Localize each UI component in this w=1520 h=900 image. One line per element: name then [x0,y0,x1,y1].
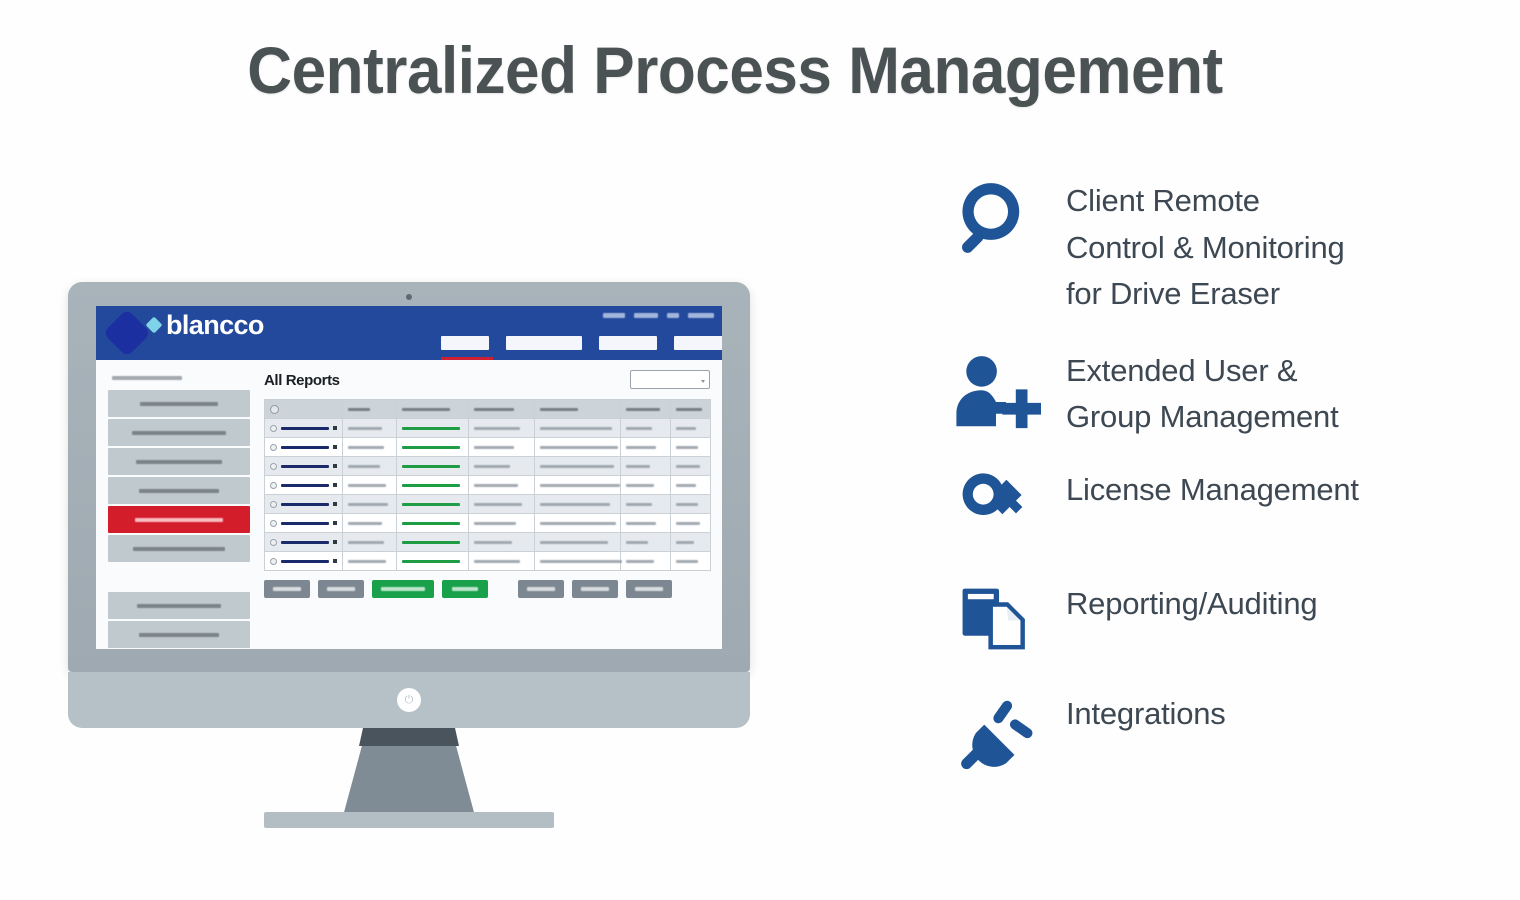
column-label [402,408,450,411]
chevron-down-icon [701,380,705,383]
feature-item-3: License Management [948,467,1488,547]
sidebar-item-label [135,518,223,522]
row-progress-bar [281,446,329,449]
row-select-group[interactable] [270,558,337,565]
col-report-cell [343,495,397,514]
table-row[interactable] [265,438,711,457]
nav-tab-2[interactable] [506,336,582,350]
action-button-label [581,587,609,591]
cell-value [474,560,520,563]
col-details-cell [535,533,621,552]
col-report-cell [343,533,397,552]
action-button-label [327,587,355,591]
reports-search-input[interactable] [630,370,710,389]
cell-value [676,541,694,544]
monitor-stand-base [264,812,554,828]
col-device-cell [469,457,535,476]
row-checkbox[interactable] [270,539,277,546]
col-details-cell [535,495,621,514]
cell-value [348,446,384,449]
feature-label-2: Extended User & Group Management [1066,348,1339,441]
cell-value [474,427,520,430]
col-device-cell [469,533,535,552]
status-bar [402,541,460,544]
col-report-cell [343,438,397,457]
cell-value [540,446,618,449]
col-date-cell [621,438,671,457]
cell-value [474,522,516,525]
cell-value [626,522,656,525]
action-button-6[interactable] [572,580,618,598]
col-user-cell [671,476,711,495]
row-progress-bar [281,465,329,468]
row-select-group[interactable] [270,501,337,508]
col-user-cell [671,438,711,457]
row-select-group[interactable] [270,482,337,489]
reports-table-body [265,419,711,571]
status-bar [402,465,460,468]
monitor-stand-neck [359,728,459,746]
app-body: All Reports [96,360,722,649]
col-status-cell [397,552,469,571]
user-add-icon [948,348,1044,438]
col-date-cell [621,495,671,514]
cell-value [540,503,610,506]
top-utility-nav[interactable] [603,313,714,318]
sidebar-item-label [140,402,218,406]
col-report-cell [343,419,397,438]
feature-list: Client Remote Control & Monitoring for D… [948,178,1488,775]
camera-dot [406,294,412,300]
select-all-checkbox[interactable] [270,405,279,414]
key-icon [948,467,1044,547]
col-device-header[interactable] [469,400,535,419]
col-report-cell [343,476,397,495]
col-device-cell [469,552,535,571]
row-progress-bar [281,541,329,544]
row-select-group[interactable] [270,463,337,470]
diamond-logo-icon [103,309,151,357]
col-details-cell [535,438,621,457]
action-button-2[interactable] [318,580,364,598]
sidebar-divider [108,564,250,592]
row-select-cell[interactable] [265,495,343,514]
sidebar-item-3[interactable] [108,448,250,475]
column-label [348,408,370,411]
monitor-screen: blancco All Repor [96,306,722,649]
col-details-cell [535,457,621,476]
col-user-cell [671,514,711,533]
col-user-cell [671,419,711,438]
feature-item-1: Client Remote Control & Monitoring for D… [948,178,1488,318]
row-checkbox[interactable] [270,520,277,527]
col-date-cell [621,457,671,476]
action-button-label [635,587,663,591]
feature-item-2: Extended User & Group Management [948,348,1488,441]
col-device-cell [469,419,535,438]
row-select-cell[interactable] [265,514,343,533]
brand-logo-text: blancco [166,310,264,341]
col-user-cell [671,552,711,571]
nav-tab-4[interactable] [674,336,722,350]
feature-label-3: License Management [1066,467,1359,514]
cell-value [626,541,648,544]
status-bar [402,427,460,430]
cell-value [348,427,382,430]
row-checkbox[interactable] [270,425,277,432]
row-marker-icon [333,502,337,506]
col-status-cell [397,476,469,495]
column-label [540,408,578,411]
row-progress-bar [281,503,329,506]
table-row[interactable] [265,533,711,552]
status-bar [402,560,460,563]
action-button-1[interactable] [264,580,310,598]
cell-value [626,484,654,487]
col-date-cell [621,533,671,552]
cell-value [474,484,518,487]
top-link-1[interactable] [603,313,625,318]
sidebar-item-label [136,460,222,464]
row-checkbox[interactable] [270,558,277,565]
row-select-cell[interactable] [265,476,343,495]
row-marker-icon [333,445,337,449]
table-row[interactable] [265,457,711,476]
action-button-5[interactable] [518,580,564,598]
row-progress-bar [281,522,329,525]
table-row[interactable] [265,514,711,533]
column-label [676,408,702,411]
table-row[interactable] [265,419,711,438]
cell-value [348,503,388,506]
sidebar-item-label [139,489,219,493]
col-details-cell [535,514,621,533]
row-select-group[interactable] [270,520,337,527]
sidebar-item-4[interactable] [108,477,250,504]
row-select-cell[interactable] [265,438,343,457]
feature-item-4: Reporting/Auditing [948,581,1488,657]
cell-value [540,541,608,544]
col-report-cell [343,552,397,571]
reports-table [264,399,711,571]
feature-label-5: Integrations [1066,691,1226,738]
col-user-cell [671,495,711,514]
status-bar [402,522,460,525]
row-select-cell[interactable] [265,552,343,571]
action-button-label [527,587,555,591]
row-progress-bar [281,560,329,563]
col-date-cell [621,514,671,533]
cell-value [676,484,696,487]
feature-label-4: Reporting/Auditing [1066,581,1317,628]
action-button-label [452,587,478,591]
cell-value [626,446,656,449]
col-select-header[interactable] [265,400,343,419]
cell-value [676,465,700,468]
action-button-4[interactable] [442,580,488,598]
row-marker-icon [333,426,337,430]
row-select-cell[interactable] [265,419,343,438]
sidebar-caption [112,376,182,380]
col-user-header[interactable] [671,400,711,419]
row-progress-bar [281,427,329,430]
action-button-3[interactable] [372,580,434,598]
desktop-monitor: blancco All Repor [68,282,750,812]
reports-panel: All Reports [264,372,710,598]
cell-value [474,503,522,506]
power-plug-icon [948,691,1044,775]
cell-value [676,446,698,449]
monitor-bezel: blancco All Repor [68,282,750,672]
cell-value [540,465,614,468]
sidebar-item-label [132,431,226,435]
col-date-cell [621,552,671,571]
row-checkbox[interactable] [270,501,277,508]
sidebar-item-label [137,604,221,608]
magnifier-icon [948,178,1044,264]
cell-value [348,560,386,563]
slide-canvas: Centralized Process Management blancco [0,0,1520,900]
col-status-header[interactable] [397,400,469,419]
col-user-cell [671,457,711,476]
table-row[interactable] [265,495,711,514]
cell-value [540,484,620,487]
sidebar-item-label [133,547,225,551]
col-user-cell [671,533,711,552]
row-checkbox[interactable] [270,463,277,470]
cell-value [540,560,622,563]
col-details-cell [535,476,621,495]
row-select-group[interactable] [270,539,337,546]
row-select-group[interactable] [270,444,337,451]
action-button-7[interactable] [626,580,672,598]
col-status-cell [397,457,469,476]
row-progress-bar [281,484,329,487]
feature-label-1: Client Remote Control & Monitoring for D… [1066,178,1345,318]
row-marker-icon [333,464,337,468]
row-checkbox[interactable] [270,444,277,451]
col-details-cell [535,419,621,438]
column-label [474,408,514,411]
col-status-cell [397,419,469,438]
cell-value [540,427,612,430]
top-link-2[interactable] [634,313,658,318]
cell-value [540,522,616,525]
col-status-cell [397,495,469,514]
cell-value [626,465,650,468]
cell-value [676,522,700,525]
sidebar-item-2[interactable] [108,419,250,446]
col-status-cell [397,438,469,457]
top-link-3[interactable] [667,313,679,318]
col-status-cell [397,514,469,533]
cell-value [348,541,384,544]
column-label [626,408,660,411]
cell-value [676,560,698,563]
top-link-4[interactable] [688,313,714,318]
col-device-cell [469,476,535,495]
app-header: blancco [96,306,722,360]
row-marker-icon [333,540,337,544]
brand-logo[interactable] [110,316,144,350]
col-device-cell [469,495,535,514]
row-checkbox[interactable] [270,482,277,489]
cell-value [474,446,514,449]
power-logo-icon[interactable]: ⏻ [397,688,421,712]
col-date-cell [621,476,671,495]
col-device-cell [469,438,535,457]
col-report-header[interactable] [343,400,397,419]
row-marker-icon [333,483,337,487]
cell-value [348,465,380,468]
cell-value [474,465,510,468]
col-status-cell [397,533,469,552]
cell-value [348,484,386,487]
action-button-label [381,587,425,591]
sidebar [108,370,250,649]
col-details-header[interactable] [535,400,621,419]
status-bar [402,503,460,506]
sidebar-item-6[interactable] [108,535,250,562]
cell-value [626,503,652,506]
row-select-cell[interactable] [265,457,343,476]
feature-item-5: Integrations [948,691,1488,775]
table-action-bar[interactable] [264,580,710,598]
col-date-cell [621,419,671,438]
row-select-cell[interactable] [265,533,343,552]
cell-value [474,541,512,544]
row-select-group[interactable] [270,425,337,432]
page-title: Centralized Process Management [44,32,1426,108]
cell-value [348,522,382,525]
cell-value [676,427,696,430]
col-date-header[interactable] [621,400,671,419]
sidebar-item-label [139,633,219,637]
table-row[interactable] [265,476,711,495]
monitor-chin: ⏻ [68,672,750,728]
status-bar [402,446,460,449]
table-header-row [265,400,711,419]
col-report-cell [343,514,397,533]
nav-tab-1[interactable] [441,336,489,350]
sidebar-item-1[interactable] [108,390,250,417]
cell-value [626,427,652,430]
cell-value [626,560,654,563]
table-row[interactable] [265,552,711,571]
row-marker-icon [333,521,337,525]
action-button-label [273,587,301,591]
col-details-cell [535,552,621,571]
main-nav-tabs[interactable] [441,336,722,350]
reports-table-head [265,400,711,419]
sidebar-item-7[interactable] [108,592,250,619]
sidebar-item-5[interactable] [108,506,250,533]
col-device-cell [469,514,535,533]
col-report-cell [343,457,397,476]
row-marker-icon [333,559,337,563]
cell-value [676,503,698,506]
nav-tab-3[interactable] [599,336,657,350]
sidebar-item-8[interactable] [108,621,250,648]
status-bar [402,484,460,487]
documents-icon [948,581,1044,657]
